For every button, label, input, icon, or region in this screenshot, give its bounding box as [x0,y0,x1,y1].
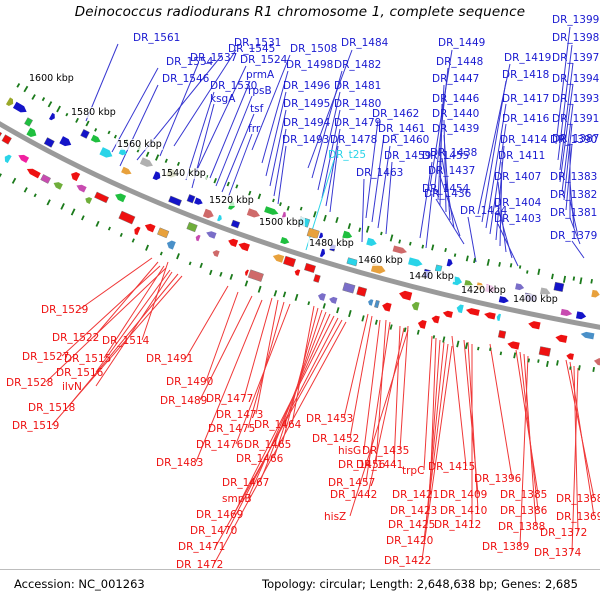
gene-label-dr-1471[interactable]: DR_1471 [178,542,225,552]
gene-label-dr-1518[interactable]: DR_1518 [28,403,75,413]
gene-label-dr-1383[interactable]: DR_1383 [550,172,597,182]
tick-marker [81,215,85,220]
gene-label-dr-1369[interactable]: DR_1369 [556,512,600,522]
gene-label-dr-1460[interactable]: DR_1460 [382,135,429,145]
gene-feature[interactable] [507,340,520,349]
tick-marker [42,97,45,101]
gene-feature[interactable] [59,136,73,148]
gene-label-dr-1374[interactable]: DR_1374 [534,548,581,558]
gene-label-dr-1561[interactable]: DR_1561 [133,33,180,43]
gene-label-dr-1493[interactable]: DR_1493 [282,135,329,145]
gene-label-dr-1452[interactable]: DR_1452 [312,434,359,444]
gene-feature[interactable] [555,334,568,343]
gene-label-dr-1475[interactable]: DR_1475 [208,424,255,434]
tick-marker [199,263,202,268]
gene-feature[interactable] [203,209,215,220]
gene-label-dr-1446[interactable]: DR_1446 [432,94,479,104]
tick-marker [500,352,502,356]
gene-feature[interactable] [320,249,326,258]
gene-label-dr-1515[interactable]: DR_1515 [64,354,111,364]
gene-feature[interactable] [212,249,220,257]
gene-feature[interactable] [264,206,279,216]
gene-feature[interactable] [328,296,337,304]
scale-tick-label: 1540 kbp [160,169,207,179]
topology-meta-text: Topology: circular; Length: 2,648,638 bp… [262,577,578,591]
gene-feature[interactable] [140,157,154,169]
gene-label-dr-1453[interactable]: DR_1453 [306,414,353,424]
tick-marker [108,131,111,135]
tick-marker [120,233,123,237]
tick-marker [442,336,445,342]
scale-tick-label: 1440 kbp [408,272,455,282]
gene-label-dr-1409[interactable]: DR_1409 [440,490,487,500]
gene-feature[interactable] [99,147,114,160]
gene-label-dr-1410[interactable]: DR_1410 [440,506,487,516]
gene-label-dr-1527[interactable]: DR_1527 [22,352,69,362]
leader-line [364,320,380,450]
tick-marker [375,320,378,325]
gene-label-dr-1437[interactable]: DR_1437 [428,166,475,176]
gene-feature[interactable] [52,180,63,189]
gene-feature[interactable] [528,320,541,329]
tick-marker [358,228,361,233]
gene-feature[interactable] [91,135,102,145]
genome-map-viewer: Deinococcus radiodurans R1 chromosome 1,… [0,0,600,600]
gene-feature[interactable] [237,241,250,251]
gene-feature[interactable] [591,290,600,298]
gene-feature[interactable] [280,237,290,245]
gene-feature[interactable] [539,346,551,356]
gene-label-dr-1416[interactable]: DR_1416 [502,114,549,124]
gene-feature[interactable] [248,270,263,282]
gene-label-dr-1457[interactable]: DR_1457 [328,478,375,488]
gene-label-ksga[interactable]: ksgA [210,94,235,104]
gene-feature[interactable] [80,129,89,138]
gene-feature[interactable] [165,239,175,249]
gene-label-dr-1448[interactable]: DR_1448 [436,57,483,67]
gene-label-hisg[interactable]: hisG [338,446,361,456]
gene-label-dr-1399[interactable]: DR_1399 [552,15,599,25]
gene-feature[interactable] [580,331,594,339]
gene-feature[interactable] [515,283,525,291]
gene-label-dr-1439[interactable]: DR_1439 [432,124,479,134]
gene-feature[interactable] [121,167,133,177]
gene-feature[interactable] [17,153,29,163]
tick-marker [537,269,540,275]
gene-feature[interactable] [417,319,427,329]
tick-marker [563,276,566,283]
tick-marker [47,199,51,205]
gene-label-dr-1494[interactable]: DR_1494 [283,118,330,128]
gene-feature[interactable] [447,259,454,267]
tick-marker [23,86,28,93]
tick-marker [56,106,61,113]
gene-feature[interactable] [304,263,315,273]
tick-marker [145,245,149,251]
leader-line [556,27,570,144]
gene-feature[interactable] [84,196,92,204]
tick-marker [526,270,528,274]
status-bar: Accession: NC_001263 Topology: circular;… [0,569,600,600]
scale-tick-label: 1500 kbp [258,218,305,228]
tick-marker [519,265,521,268]
gene-label-frr[interactable]: frr [248,124,260,134]
leader-line [452,336,466,466]
gene-label-dr-1483[interactable]: DR_1483 [156,458,203,468]
tick-marker [300,207,303,211]
gene-feature[interactable] [114,192,126,203]
tick-marker [477,347,479,351]
tick-marker [60,203,65,210]
gene-label-dr-1393[interactable]: DR_1393 [552,94,599,104]
scale-tick-label: 1580 kbp [70,108,117,118]
gene-label-dr-1495[interactable]: DR_1495 [283,99,330,109]
gene-label-dr-1476[interactable]: DR_1476 [196,440,243,450]
tick-marker [230,274,234,280]
gene-feature[interactable] [195,234,201,241]
gene-feature[interactable] [465,307,480,316]
tick-marker [487,259,490,266]
gene-feature[interactable] [3,153,12,163]
tick-marker [24,187,28,192]
gene-label-dr-1455[interactable]: DR_1455 [422,151,469,161]
gene-label-dr-1403[interactable]: DR_1403 [494,214,541,224]
gene-feature[interactable] [561,309,573,317]
gene-feature[interactable] [498,330,506,338]
gene-label-dr-1463[interactable]: DR_1463 [356,168,403,178]
tick-marker [336,307,339,313]
tick-marker [546,361,549,367]
gene-feature[interactable] [144,222,156,232]
gene-feature[interactable] [187,222,198,232]
gene-label-dr-1477[interactable]: DR_1477 [206,394,253,404]
tick-marker [75,118,79,123]
gene-label-dr-1496[interactable]: DR_1496 [283,81,330,91]
gene-label-dr-1465[interactable]: DR_1465 [244,440,291,450]
gene-label-dr-1418[interactable]: DR_1418 [502,70,549,80]
tick-marker [146,152,150,157]
gene-label-dr-1490[interactable]: DR_1490 [166,377,213,387]
gene-label-dr-1372[interactable]: DR_1372 [540,528,587,538]
tick-marker [279,202,282,206]
gene-feature[interactable] [576,311,587,320]
gene-feature[interactable] [411,301,420,310]
gene-label-dr-1466[interactable]: DR_1466 [236,454,283,464]
gene-label-dr-1381[interactable]: DR_1381 [550,208,597,218]
gene-label-smpb[interactable]: smpB [222,494,252,504]
gene-feature[interactable] [357,287,367,297]
tick-marker [114,135,117,139]
gene-feature[interactable] [431,315,440,324]
gene-label-dr-1484[interactable]: DR_1484 [341,38,388,48]
gene-label-dr-1394[interactable]: DR_1394 [552,74,599,84]
gene-feature[interactable] [49,113,57,121]
gene-label-dr-1421[interactable]: DR_1421 [392,490,439,500]
gene-label-dr-1447[interactable]: DR_1447 [432,74,479,84]
tick-marker [274,290,278,296]
gene-label-dr-1385[interactable]: DR_1385 [500,490,547,500]
tick-marker [258,286,262,293]
gene-label-dr-1414[interactable]: DR_1414 [500,135,547,145]
gene-feature[interactable] [119,211,135,224]
gene-label-dr-1529[interactable]: DR_1529 [41,305,88,315]
tick-marker [431,244,434,250]
tick-marker [398,239,401,243]
gene-feature[interactable] [381,302,392,312]
gene-feature[interactable] [272,253,284,263]
gene-feature[interactable] [13,102,28,115]
gene-feature[interactable] [593,357,600,366]
gene-feature[interactable] [24,118,32,127]
gene-label-dr-1440[interactable]: DR_1440 [432,109,479,119]
gene-label-dr-1491[interactable]: DR_1491 [146,354,193,364]
tick-marker [465,342,468,349]
scale-tick-label: 1400 kbp [512,295,559,305]
scale-tick-label: 1600 kbp [28,74,75,84]
tick-marker [272,199,275,203]
tick-marker [348,223,351,229]
gene-label-dr-1368[interactable]: DR_1368 [556,494,600,504]
gene-label-dr-1423[interactable]: DR_1423 [390,506,437,516]
gene-label-dr-1522[interactable]: DR_1522 [52,333,99,343]
tick-marker [551,274,554,280]
tick-marker [590,279,593,284]
tick-marker [31,94,35,100]
tick-marker [579,277,582,284]
gene-feature[interactable] [398,290,412,301]
tick-marker [323,303,326,309]
leader-line [362,179,364,242]
leader-line [216,96,252,186]
leader-line [498,224,518,266]
gene-feature[interactable] [187,194,195,203]
gene-feature[interactable] [483,311,495,319]
gene-label-dr-1390[interactable]: DR_1390 [550,135,597,145]
tick-marker [592,367,595,372]
gene-label-dr-1479[interactable]: DR_1479 [334,118,381,128]
tick-marker [132,238,135,242]
gene-label-dr-1382[interactable]: DR_1382 [550,190,597,200]
gene-label-dr-1531[interactable]: DR_1531 [234,38,281,48]
leader-line [426,194,432,248]
tick-marker [510,263,513,267]
scale-tick-label: 1420 kbp [460,286,507,296]
tick-marker [189,262,192,266]
gene-feature[interactable] [554,282,564,292]
gene-feature[interactable] [442,310,453,318]
gene-label-dr-1498[interactable]: DR_1498 [286,60,333,70]
leader-line [394,326,400,464]
gene-label-dr-1478[interactable]: DR_1478 [330,135,377,145]
gene-feature[interactable] [566,353,574,360]
gene-label-dr-1546[interactable]: DR_1546 [162,74,209,84]
gene-feature[interactable] [41,174,51,183]
gene-label-dr-1461[interactable]: DR_1461 [378,124,425,134]
gene-label-dr-1389[interactable]: DR_1389 [482,542,529,552]
leader-line [490,344,512,478]
gene-feature[interactable] [374,300,379,308]
tick-marker [108,227,111,231]
gene-feature[interactable] [194,198,204,207]
gene-feature[interactable] [393,245,408,254]
tick-marker [444,248,447,252]
gene-feature[interactable] [94,192,108,203]
gene-label-dr-1407[interactable]: DR_1407 [494,172,541,182]
scale-tick-label: 1480 kbp [308,239,355,249]
gene-label-prma[interactable]: prmA [246,70,274,80]
gene-feature[interactable] [343,283,356,294]
gene-label-dr-1417[interactable]: DR_1417 [502,94,549,104]
tick-marker [287,206,290,211]
gene-label-dr-1411[interactable]: DR_1411 [498,151,545,161]
gene-label-dr-1528[interactable]: DR_1528 [6,378,53,388]
leader-line [424,336,432,470]
gene-label-dr-1398[interactable]: DR_1398 [552,33,599,43]
tick-marker [258,193,262,199]
gene-feature[interactable] [317,292,326,301]
gene-feature[interactable] [366,238,377,247]
leader-line [278,146,286,204]
gene-label-ilvn[interactable]: ilvN [62,382,82,392]
accession-text: Accession: NC_001263 [14,577,145,591]
gene-feature[interactable] [168,196,181,206]
gene-label-dr-1425[interactable]: DR_1425 [388,520,435,530]
gene-feature[interactable] [231,220,240,228]
gene-label-dr-1397[interactable]: DR_1397 [552,53,599,63]
gene-label-dr-1524[interactable]: DR_1524 [240,55,287,65]
tick-marker [323,215,327,222]
gene-label-dr-1449[interactable]: DR_1449 [438,38,485,48]
gene-label-dr-1442[interactable]: DR_1442 [330,490,377,500]
tick-marker [348,310,352,317]
gene-label-dr-1519[interactable]: DR_1519 [12,421,59,431]
gene-label-trpc[interactable]: trpC [402,466,424,476]
tick-marker [71,208,76,215]
tick-marker [48,101,53,107]
gene-feature[interactable] [294,269,300,276]
gene-label-dr-1470[interactable]: DR_1470 [190,526,237,536]
gene-feature[interactable] [44,137,54,147]
tick-marker [573,276,576,280]
tick-marker [295,294,299,301]
tick-marker [578,365,581,370]
gene-feature[interactable] [25,166,40,178]
gene-label-dr-1508[interactable]: DR_1508 [290,44,337,54]
tick-marker [160,252,163,256]
gene-feature[interactable] [133,226,141,235]
tick-marker [65,113,68,116]
tick-marker [335,217,338,223]
tick-marker [245,280,249,286]
tick-marker [16,83,20,88]
gene-feature[interactable] [217,215,223,222]
tick-marker [456,341,459,348]
tick-marker [380,232,383,236]
gene-label-dr-1514[interactable]: DR_1514 [102,336,149,346]
gene-label-dr-1388[interactable]: DR_1388 [498,522,545,532]
gene-feature[interactable] [6,97,15,107]
gene-label-dr-1415[interactable]: DR_1415 [428,462,475,472]
scale-tick-label: 1560 kbp [116,140,163,150]
gene-label-dr-1482[interactable]: DR_1482 [334,60,381,70]
gene-label-dr-1396[interactable]: DR_1396 [474,474,521,484]
tick-marker [366,226,370,233]
gene-feature[interactable] [157,228,169,238]
gene-label-dr-1467[interactable]: DR_1467 [222,478,269,488]
gene-label-dr-1489[interactable]: DR_1489 [160,396,207,406]
rna-label-dr-t25[interactable]: DR_t25 [328,150,366,160]
gene-label-dr-1422[interactable]: DR_1422 [384,556,431,566]
tick-marker [155,154,159,161]
gene-feature[interactable] [2,135,12,145]
leader-line [244,298,272,398]
tick-marker [417,330,420,335]
gene-feature[interactable] [205,230,216,239]
gene-label-dr-1436[interactable]: DR_1436 [424,189,471,199]
gene-label-dr-1464[interactable]: DR_1464 [254,420,301,430]
tick-marker [409,242,412,246]
gene-feature[interactable] [499,296,510,304]
gene-feature[interactable] [456,304,464,313]
tick-marker [165,159,168,163]
gene-feature[interactable] [367,299,373,306]
tick-marker [177,162,180,166]
gene-feature[interactable] [227,237,238,247]
gene-label-dr-1469[interactable]: DR_1469 [196,510,243,520]
tick-marker [235,184,238,188]
leader-line [142,262,168,340]
scale-tick-label: 1520 kbp [208,196,255,206]
gene-label-dr-1419[interactable]: DR_1419 [504,53,551,63]
tick-marker [466,255,469,261]
tick-marker [390,324,393,329]
gene-feature[interactable] [313,274,320,282]
gene-feature[interactable] [0,127,2,138]
gene-label-dr-1516[interactable]: DR_1516 [56,368,103,378]
gene-feature[interactable] [75,183,86,193]
tick-marker [361,315,364,321]
gene-label-tsf[interactable]: tsf [250,104,263,114]
gene-label-dr-1379[interactable]: DR_1379 [550,231,597,241]
gene-feature[interactable] [244,269,249,276]
gene-label-dr-1435[interactable]: DR_1435 [362,446,409,456]
tick-marker [213,178,217,183]
gene-label-dr-1391[interactable]: DR_1391 [552,114,599,124]
gene-label-dr-1537[interactable]: DR_1537 [190,53,237,63]
leader-line [468,217,476,262]
gene-label-dr-1481[interactable]: DR_1481 [334,81,381,91]
leader-line [228,134,252,198]
tick-marker [96,221,100,227]
gene-label-hisz[interactable]: hisZ [324,512,346,522]
leader-line [186,286,228,358]
gene-label-dr-1412[interactable]: DR_1412 [434,520,481,530]
gene-label-rpsb[interactable]: rpsB [248,86,272,96]
gene-feature[interactable] [283,256,296,267]
tick-marker [307,301,310,305]
gene-feature[interactable] [496,313,501,321]
tick-marker [0,173,2,177]
tick-marker [12,178,16,184]
gene-label-dr-1386[interactable]: DR_1386 [500,506,547,516]
gene-feature[interactable] [69,170,80,181]
gene-feature[interactable] [408,257,423,267]
leader-line [400,326,408,450]
tick-marker [513,352,516,358]
gene-label-dr-1456[interactable]: DR_1456 [338,460,385,470]
tick-marker [390,234,394,241]
gene-label-dr-1420[interactable]: DR_1420 [386,536,433,546]
